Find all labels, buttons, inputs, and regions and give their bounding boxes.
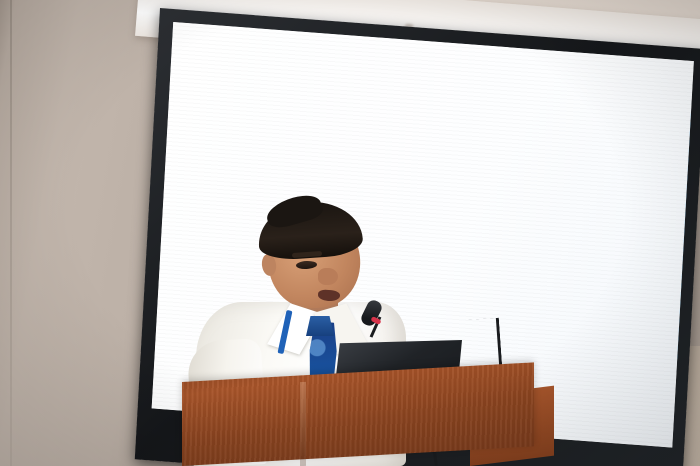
necktie-knot [306, 316, 334, 336]
wall-panel-seam [10, 0, 12, 466]
presentation-photo-scene: 食品安全研究室科研 食品安全研究室是苏微公司在食品、农产品中有毒有害 物质监测领… [0, 0, 700, 466]
speaker-nose [318, 268, 338, 285]
podium-front-edge [300, 382, 306, 466]
slide-title: 食品安全研究室科研 [257, 101, 511, 159]
